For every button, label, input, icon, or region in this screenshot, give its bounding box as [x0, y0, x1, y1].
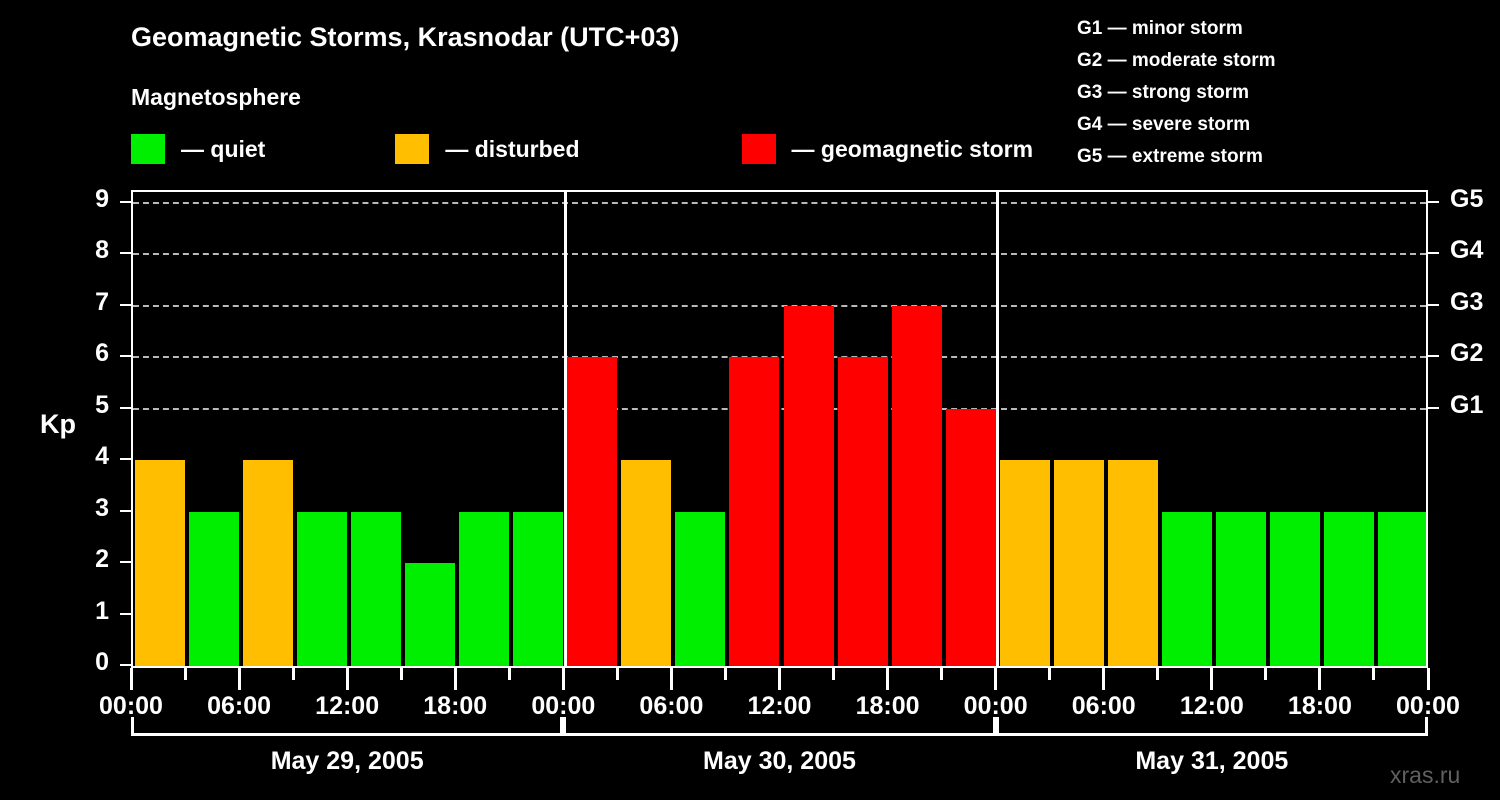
y-tick-label-7: 7: [95, 288, 109, 317]
bar-4[interactable]: [351, 512, 401, 666]
x-tick-major-10: [670, 668, 673, 690]
y-tick-label-4: 4: [95, 442, 109, 471]
g-legend-line-1: G1 — minor storm: [1077, 13, 1276, 45]
g-legend-line-2: G2 — moderate storm: [1077, 45, 1276, 77]
date-label-2: May 30, 2005: [563, 747, 995, 776]
legend-label-disturbed: — disturbed: [445, 136, 579, 163]
y-tick-label-9: 9: [95, 185, 109, 214]
magnetosphere-label: Magnetosphere: [131, 84, 301, 111]
bar-6[interactable]: [459, 512, 509, 666]
g-tick-G4: [1428, 252, 1439, 254]
x-tick-minor-7: [508, 668, 511, 680]
legend-swatch-quiet: [131, 134, 165, 164]
y-tick-label-5: 5: [95, 391, 109, 420]
x-tick-minor-21: [1264, 668, 1267, 680]
legend-entry-disturbed: — disturbed: [395, 134, 579, 164]
bar-16[interactable]: [1000, 460, 1050, 666]
g-tick-G1: [1428, 407, 1439, 409]
legend-entry-quiet: — quiet: [131, 134, 265, 164]
bar-0[interactable]: [135, 460, 185, 666]
bar-11[interactable]: [729, 357, 779, 666]
gridline-kp-5: [133, 408, 1426, 410]
y-tick-3: [120, 510, 131, 512]
y-tick-label-6: 6: [95, 339, 109, 368]
bar-15[interactable]: [946, 409, 996, 666]
x-tick-major-2: [238, 668, 241, 690]
bar-21[interactable]: [1270, 512, 1320, 666]
y-tick-label-0: 0: [95, 648, 109, 677]
legend-label-quiet: — quiet: [181, 136, 265, 163]
x-tick-major-16: [994, 668, 997, 690]
bar-22[interactable]: [1324, 512, 1374, 666]
bar-14[interactable]: [892, 306, 942, 666]
gridline-kp-7: [133, 305, 1426, 307]
date-bracket-1: [131, 717, 563, 733]
g-legend-line-5: G5 — extreme storm: [1077, 141, 1276, 173]
y-tick-5: [120, 407, 131, 409]
watermark: xras.ru: [1390, 762, 1460, 789]
y-tick-9: [120, 201, 131, 203]
x-tick-major-24: [1427, 668, 1430, 690]
color-legend: — quiet— disturbed— geomagnetic storm: [131, 134, 1033, 164]
x-tick-minor-15: [940, 668, 943, 680]
g-axis-label-G2: G2: [1450, 339, 1483, 368]
bar-13[interactable]: [838, 357, 888, 666]
legend-label-storm: — geomagnetic storm: [792, 136, 1034, 163]
g-axis-label-G4: G4: [1450, 236, 1483, 265]
x-tick-major-4: [346, 668, 349, 690]
g-tick-G2: [1428, 355, 1439, 357]
bar-9[interactable]: [621, 460, 671, 666]
bar-2[interactable]: [243, 460, 293, 666]
x-tick-major-18: [1102, 668, 1105, 690]
x-tick-major-6: [454, 668, 457, 690]
x-tick-major-22: [1318, 668, 1321, 690]
x-tick-minor-11: [724, 668, 727, 680]
g-axis-label-G1: G1: [1450, 391, 1483, 420]
y-tick-8: [120, 252, 131, 254]
y-tick-2: [120, 561, 131, 563]
date-bracket-line-2: [563, 733, 995, 736]
date-bracket-line-3: [996, 733, 1428, 736]
bar-1[interactable]: [189, 512, 239, 666]
date-label-1: May 29, 2005: [131, 747, 563, 776]
legend-entry-storm: — geomagnetic storm: [742, 134, 1034, 164]
x-tick-minor-1: [184, 668, 187, 680]
page-title: Geomagnetic Storms, Krasnodar (UTC+03): [131, 22, 679, 53]
x-tick-minor-3: [292, 668, 295, 680]
legend-swatch-disturbed: [395, 134, 429, 164]
x-tick-minor-5: [400, 668, 403, 680]
gridline-kp-9: [133, 202, 1426, 204]
day-separator-2: [996, 192, 999, 666]
g-tick-G5: [1428, 201, 1439, 203]
g-tick-G3: [1428, 304, 1439, 306]
x-tick-major-20: [1210, 668, 1213, 690]
bar-23[interactable]: [1378, 512, 1428, 666]
bar-5[interactable]: [405, 563, 455, 666]
y-tick-7: [120, 304, 131, 306]
g-legend-line-3: G3 — strong storm: [1077, 77, 1276, 109]
bar-19[interactable]: [1162, 512, 1212, 666]
x-tick-major-14: [886, 668, 889, 690]
y-tick-label-2: 2: [95, 545, 109, 574]
y-tick-label-1: 1: [95, 597, 109, 626]
date-bracket-2: [563, 717, 995, 733]
date-label-3: May 31, 2005: [996, 747, 1428, 776]
y-tick-0: [120, 664, 131, 666]
x-tick-minor-17: [1048, 668, 1051, 680]
y-tick-label-3: 3: [95, 494, 109, 523]
date-bracket-3: [996, 717, 1428, 733]
bar-12[interactable]: [784, 306, 834, 666]
bar-7[interactable]: [513, 512, 563, 666]
g-axis-label-G3: G3: [1450, 288, 1483, 317]
bar-20[interactable]: [1216, 512, 1266, 666]
x-tick-major-8: [562, 668, 565, 690]
bar-18[interactable]: [1108, 460, 1158, 666]
x-tick-minor-19: [1156, 668, 1159, 680]
bar-8[interactable]: [567, 357, 617, 666]
bar-17[interactable]: [1054, 460, 1104, 666]
x-tick-minor-23: [1372, 668, 1375, 680]
gridline-kp-6: [133, 356, 1426, 358]
chart-plot-area: [131, 190, 1428, 668]
x-tick-major-0: [130, 668, 133, 690]
x-tick-minor-13: [832, 668, 835, 680]
date-bracket-line-1: [131, 733, 563, 736]
g-axis-label-G5: G5: [1450, 185, 1483, 214]
legend-swatch-storm: [742, 134, 776, 164]
y-tick-4: [120, 458, 131, 460]
gridline-kp-8: [133, 253, 1426, 255]
g-legend-line-4: G4 — severe storm: [1077, 109, 1276, 141]
y-tick-6: [120, 355, 131, 357]
x-tick-major-12: [778, 668, 781, 690]
y-tick-label-8: 8: [95, 236, 109, 265]
day-separator-1: [564, 192, 567, 666]
y-tick-1: [120, 613, 131, 615]
x-tick-minor-9: [616, 668, 619, 680]
bar-3[interactable]: [297, 512, 347, 666]
g-scale-legend: G1 — minor stormG2 — moderate stormG3 — …: [1077, 13, 1276, 173]
y-axis-title: Kp: [40, 409, 76, 440]
bar-10[interactable]: [675, 512, 725, 666]
